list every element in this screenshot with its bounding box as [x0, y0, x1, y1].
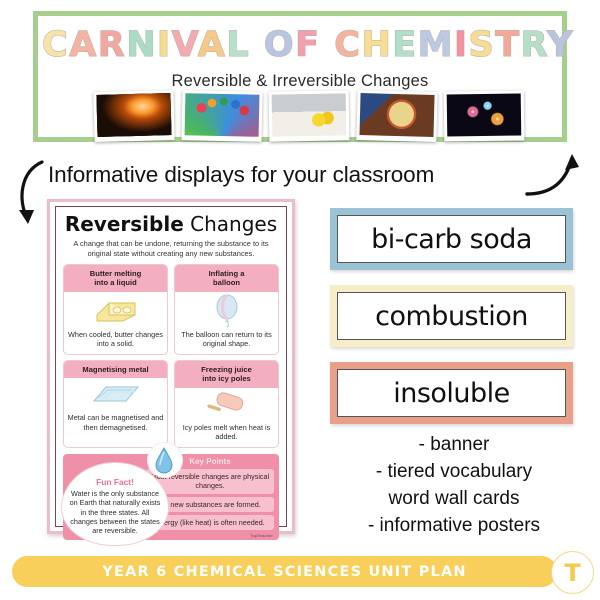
- water-droplet-icon: [147, 442, 183, 478]
- banner-title-letter: M: [418, 25, 454, 65]
- balloons-photo: [181, 90, 262, 142]
- carnival-banner: CARNIVAL OF CHEMISTRY Reversible & Irrev…: [33, 11, 567, 142]
- word-card-insoluble[interactable]: insoluble: [330, 362, 573, 424]
- example-card: Inflating aballoon The balloon can retur…: [174, 264, 279, 355]
- card-heading: Inflating aballoon: [175, 265, 278, 292]
- banner-title-letter: O: [264, 25, 295, 65]
- brand-logo: T: [551, 551, 594, 594]
- card-text: When cooled, butter changes into a solid…: [64, 328, 167, 354]
- word-card-bi-carb-soda[interactable]: bi-carb soda: [330, 208, 573, 270]
- fire-photo: [93, 90, 174, 142]
- card-text: Icy poles melt when heat is added.: [175, 421, 278, 447]
- banner-title-letter: I: [454, 25, 469, 65]
- poster-inner-frame: Reversible Changes A change that can be …: [55, 206, 287, 527]
- banner-title-letter: C: [334, 25, 361, 65]
- card-heading: Magnetising metal: [64, 361, 167, 378]
- balloon-icon: [175, 292, 278, 328]
- word-card-label: insoluble: [393, 380, 510, 407]
- card-heading: Freezing juiceinto icy poles: [175, 361, 278, 388]
- curved-arrow-right-icon: [525, 150, 585, 198]
- fun-fact-title: Fun Fact!: [62, 477, 168, 487]
- poster-credit: TopTeacher: [250, 533, 273, 538]
- banner-inner: CARNIVAL OF CHEMISTRY Reversible & Irrev…: [42, 20, 558, 133]
- word-card-label: combustion: [375, 303, 528, 330]
- page-tagline: Informative displays for your classroom: [48, 162, 528, 188]
- poster-card-row-2: Magnetising metal Metal can be magnetise…: [63, 360, 279, 448]
- feature-item: - tiered vocabulary: [325, 459, 583, 486]
- card-text: The balloon can return to its original s…: [175, 328, 278, 354]
- word-card-inner: insoluble: [337, 369, 566, 417]
- fireworks-photo: [444, 90, 525, 141]
- banner-title-letter: I: [157, 25, 172, 65]
- banner-title-letter: A: [69, 25, 98, 65]
- banner-title-letter: S: [469, 25, 496, 65]
- poster-title-bold: Reversible: [65, 212, 184, 236]
- banner-title-letter: N: [126, 25, 157, 65]
- magnet-icon: [64, 378, 167, 411]
- poster-definition: A change that can be undone, returning t…: [63, 239, 279, 259]
- poster-title-light: Changes: [184, 212, 277, 236]
- poster-title: Reversible Changes: [63, 214, 279, 235]
- banner-title-letter: [250, 25, 264, 65]
- feature-list: - banner - tiered vocabulary word wall c…: [325, 432, 583, 540]
- banner-photo-strip: [94, 88, 524, 144]
- butter-icon: [64, 292, 167, 328]
- banner-title-letter: F: [295, 25, 320, 65]
- reversible-changes-poster[interactable]: Reversible Changes A change that can be …: [47, 199, 295, 534]
- example-card: Freezing juiceinto icy poles Icy poles m…: [174, 360, 279, 448]
- fun-fact-text: Water is the only substance on Earth tha…: [62, 487, 168, 536]
- food-photo: [356, 90, 437, 142]
- banner-title-letter: R: [521, 25, 548, 65]
- feature-item: - banner: [325, 432, 583, 459]
- poster-card-row-1: Butter meltinginto a liquid When cooled,…: [63, 264, 279, 355]
- feature-item: word wall cards: [325, 486, 583, 513]
- banner-title-letter: V: [172, 25, 198, 65]
- card-heading: Butter meltinginto a liquid: [64, 265, 167, 292]
- icypole-icon: [175, 388, 278, 421]
- word-card-inner: combustion: [337, 292, 566, 340]
- footer-bar: YEAR 6 CHEMICAL SCIENCES UNIT PLAN: [12, 556, 557, 587]
- card-text: Metal can be magnetised and then demagne…: [64, 411, 167, 437]
- banner-title-letter: E: [392, 25, 417, 65]
- word-card-combustion[interactable]: combustion: [330, 285, 573, 347]
- banner-title-letter: L: [226, 25, 250, 65]
- banner-title-letter: Y: [547, 25, 574, 65]
- example-card: Magnetising metal Metal can be magnetise…: [63, 360, 168, 448]
- banner-title-letter: R: [98, 25, 126, 65]
- banner-title-letter: H: [361, 25, 392, 65]
- banner-title-letter: C: [42, 25, 69, 65]
- feature-item: - informative posters: [325, 513, 583, 540]
- banner-title-letter: [321, 25, 335, 65]
- banner-title-letter: T: [495, 25, 520, 65]
- banner-title: CARNIVAL OF CHEMISTRY: [42, 28, 558, 63]
- word-card-label: bi-carb soda: [371, 226, 532, 253]
- lemons-photo: [269, 90, 350, 141]
- footer-title: YEAR 6 CHEMICAL SCIENCES UNIT PLAN: [12, 556, 557, 587]
- banner-title-letter: A: [198, 25, 227, 65]
- poster-bottom-band: Key Points Most reversible changes are p…: [63, 454, 279, 540]
- example-card: Butter meltinginto a liquid When cooled,…: [63, 264, 168, 355]
- word-card-inner: bi-carb soda: [337, 215, 566, 263]
